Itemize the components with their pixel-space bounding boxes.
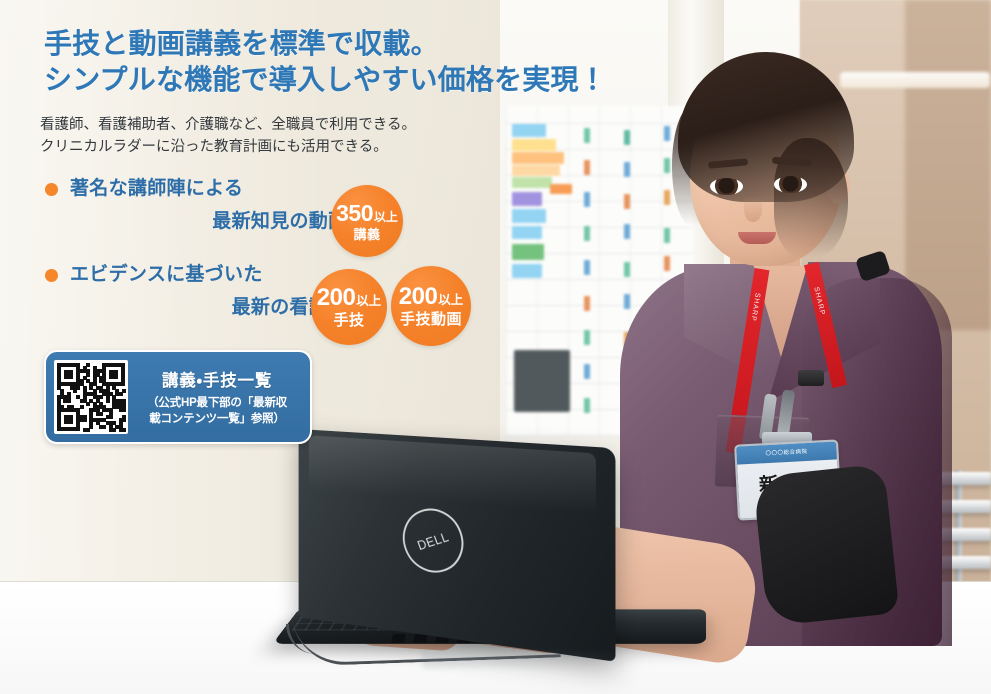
badge-count-wrap: 350以上 <box>336 202 398 225</box>
lanyard-text: SHARP <box>812 286 825 316</box>
subcopy-line-1: 看護師、看護補助者、介護職など、全職員で利用できる。 <box>40 114 510 136</box>
qr-code-icon[interactable] <box>54 360 128 434</box>
qr-note-line-1: （公式HP最下部の「最新収 <box>130 395 304 411</box>
headline-line-2: シンプルな機能で導入しやすい価格を実現！ <box>44 62 564 98</box>
bullet-dot-icon <box>45 183 58 196</box>
subcopy-line-2: クリニカルラダーに沿った教育計画にも活用できる。 <box>40 136 510 158</box>
nose <box>744 196 762 222</box>
bullet-dot-icon <box>45 269 58 282</box>
promo-copy: 手技と動画講義を標準で収載。 シンプルな機能で導入しやすい価格を実現！ 看護師、… <box>0 0 560 694</box>
qr-note-line-2: 載コンテンツ一覧」参照） <box>130 411 304 427</box>
badge-lectures: 350以上 講義 <box>331 185 403 257</box>
qr-banner-note: （公式HP最下部の「最新収 載コンテンツ一覧」参照） <box>130 395 304 427</box>
qr-banner[interactable]: 講義・手技一覧 （公式HP最下部の「最新収 載コンテンツ一覧」参照） <box>44 350 312 444</box>
qr-banner-text: 講義・手技一覧 （公式HP最下部の「最新収 載コンテンツ一覧」参照） <box>128 367 310 427</box>
subcopy: 看護師、看護補助者、介護職など、全職員で利用できる。 クリニカルラダーに沿った教… <box>40 114 510 158</box>
qr-banner-title: 講義・手技一覧 <box>130 367 304 391</box>
badge-suffix: 以上 <box>356 295 381 307</box>
mouth <box>738 232 776 244</box>
hair <box>678 52 854 202</box>
badge-label: 手技動画 <box>400 312 462 327</box>
badge-skill-videos: 200以上 手技動画 <box>391 266 471 346</box>
badge-label: 講義 <box>353 228 380 241</box>
eye-left <box>710 178 743 195</box>
lanyard-clip <box>798 370 824 386</box>
badge-count-wrap: 200以上 <box>399 285 464 309</box>
badge-label: 手技 <box>333 313 364 328</box>
badge-suffix: 以上 <box>374 212 398 224</box>
badge-count: 200 <box>399 285 438 309</box>
promo-banner: SHARP SHARP 〇〇〇総合病院 新 田 <box>0 0 991 694</box>
eye-right <box>774 176 807 193</box>
badge-skills: 200以上 手技 <box>311 269 387 345</box>
inner-sleeve <box>753 464 900 627</box>
headline-line-1: 手技と動画講義を標準で収載。 <box>44 26 564 62</box>
qr-code-pattern <box>57 363 125 431</box>
badge-count-wrap: 200以上 <box>317 286 382 310</box>
badge-suffix: 以上 <box>438 294 463 306</box>
lanyard-text: SHARP <box>749 292 760 322</box>
badge-count: 350 <box>336 202 373 225</box>
badge-count: 200 <box>317 286 356 310</box>
headline: 手技と動画講義を標準で収載。 シンプルな機能で導入しやすい価格を実現！ <box>44 26 564 98</box>
